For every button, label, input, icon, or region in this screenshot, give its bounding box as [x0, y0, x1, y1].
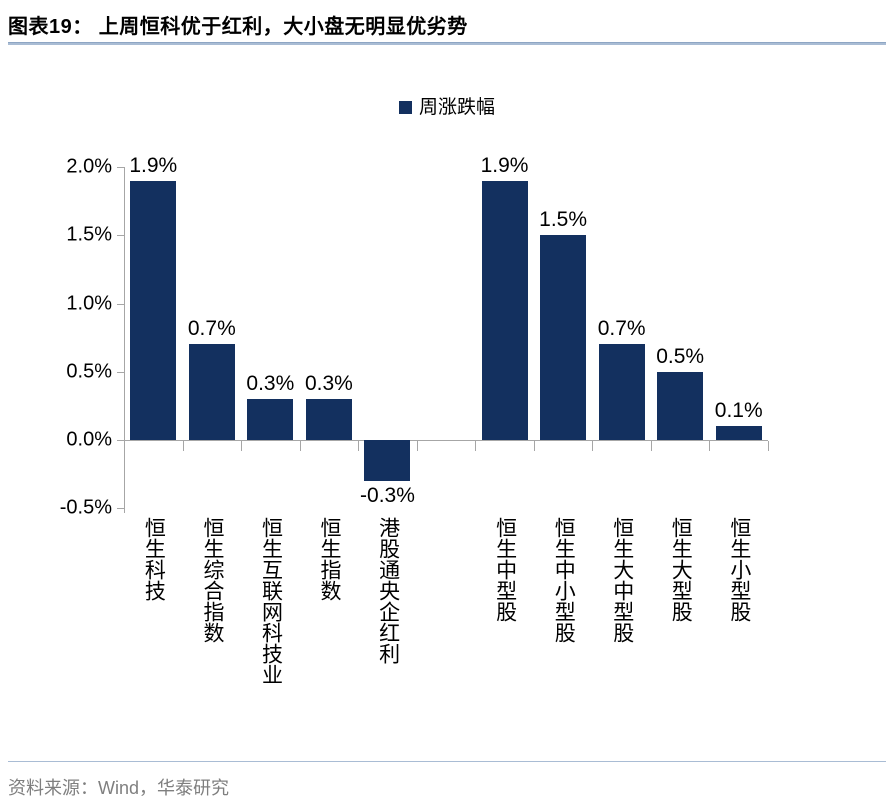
x-axis-tick-mark [183, 441, 184, 451]
bar-value-label: 1.9% [481, 154, 529, 178]
x-axis-category-label: 恒生大中型股 [611, 517, 633, 643]
y-axis-tick-mark [117, 167, 124, 168]
bar[interactable] [130, 181, 176, 440]
x-axis-category-label: 恒生互联网科技业 [259, 517, 281, 685]
y-axis-tick-mark [117, 304, 124, 305]
y-axis-tick-label: 0.0% [30, 429, 112, 452]
x-axis-zero-line [124, 440, 768, 441]
bar-value-label: 1.5% [539, 208, 587, 232]
bar-chart: 2.0%1.5%1.0%0.5%0.0%-0.5% 1.9%恒生科技0.7%恒生… [0, 0, 894, 808]
x-axis-tick-mark [475, 441, 476, 451]
x-axis-tick-mark [124, 441, 125, 451]
bar-value-label: 0.3% [305, 372, 353, 396]
y-axis-tick-label: 2.0% [30, 156, 112, 179]
x-axis-tick-mark [768, 441, 769, 451]
bar[interactable] [306, 399, 352, 440]
x-axis-category-label: 恒生指数 [318, 517, 340, 601]
bar[interactable] [657, 372, 703, 440]
bar-value-label: -0.3% [360, 484, 415, 508]
bar[interactable] [189, 344, 235, 440]
bar[interactable] [482, 181, 528, 440]
footer-divider [8, 761, 886, 762]
bar[interactable] [599, 344, 645, 440]
x-axis-tick-mark [358, 441, 359, 451]
bar-value-label: 1.9% [129, 154, 177, 178]
x-axis-category-label: 恒生中型股 [493, 517, 515, 622]
bar[interactable] [716, 426, 762, 440]
y-axis-tick-mark [117, 372, 124, 373]
bar-value-label: 0.1% [715, 399, 763, 423]
bar-value-label: 0.5% [656, 345, 704, 369]
y-axis-labels: 2.0%1.5%1.0%0.5%0.0%-0.5% [30, 0, 112, 808]
x-axis-tick-mark [592, 441, 593, 451]
x-axis-category-label: 恒生大型股 [669, 517, 691, 622]
bar[interactable] [540, 235, 586, 440]
y-axis-tick-mark [117, 440, 124, 441]
x-axis-category-label: 恒生综合指数 [201, 517, 223, 643]
y-axis-tick-label: 1.0% [30, 292, 112, 315]
bar-value-label: 0.7% [598, 317, 646, 341]
bar-value-label: 0.7% [188, 317, 236, 341]
x-axis-tick-mark [651, 441, 652, 451]
x-axis-tick-mark [417, 441, 418, 451]
x-axis-tick-mark [534, 441, 535, 451]
x-axis-tick-mark [709, 441, 710, 451]
y-axis-tick-mark [117, 235, 124, 236]
bar[interactable] [364, 440, 410, 481]
y-axis-tick-mark [117, 508, 124, 509]
x-axis-category-label: 恒生中小型股 [552, 517, 574, 643]
x-axis-category-label: 恒生科技 [142, 517, 164, 601]
x-axis-category-label: 恒生小型股 [728, 517, 750, 622]
source-note: 资料来源：Wind，华泰研究 [8, 774, 229, 800]
y-axis-tick-label: -0.5% [30, 497, 112, 520]
bar[interactable] [247, 399, 293, 440]
y-axis-line [124, 167, 125, 513]
y-axis-tick-label: 0.5% [30, 360, 112, 383]
x-axis-category-label: 港股通央企红利 [376, 517, 398, 664]
bar-value-label: 0.3% [246, 372, 294, 396]
x-axis-tick-mark [241, 441, 242, 451]
y-axis-tick-label: 1.5% [30, 224, 112, 247]
x-axis-tick-mark [300, 441, 301, 451]
